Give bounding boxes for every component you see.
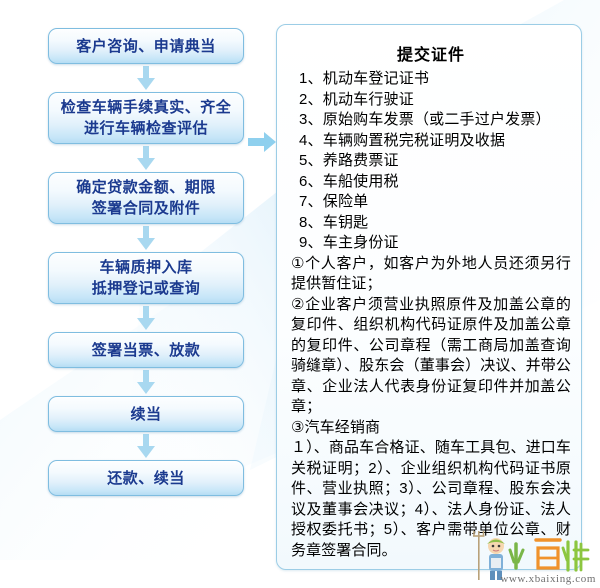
down-arrow-icon (137, 66, 155, 90)
down-arrow-icon (137, 306, 155, 330)
note-enterprise-customer: ②企业客户须营业执照原件及加盖公章的复印件、组织机构代码证原件及加盖公章的复印件… (291, 295, 571, 418)
connector-arrow-4 (48, 304, 244, 332)
down-arrow-icon (137, 226, 155, 250)
list-item: 9、车主身份证 (291, 233, 571, 254)
down-arrow-icon (137, 370, 155, 394)
flow-step-1[interactable]: 客户咨询、申请典当 (48, 28, 244, 64)
flow-step-label: 确定贷款金额、期限 签署合同及附件 (70, 177, 222, 219)
connector-arrow-to-panel (248, 132, 276, 152)
required-documents-panel: 提交证件 1、机动车登记证书 2、机动车行驶证 3、原始购车发票（或二手过户发票… (276, 24, 582, 570)
flow-step-5[interactable]: 签署当票、放款 (48, 332, 244, 368)
required-documents-list: 1、机动车登记证书 2、机动车行驶证 3、原始购车发票（或二手过户发票） 4、车… (291, 69, 571, 254)
flow-step-label: 检查车辆手续真实、齐全 进行车辆检查评估 (55, 97, 238, 139)
flow-step-label: 还款、续当 (101, 468, 191, 489)
flow-step-label: 签署当票、放款 (86, 340, 207, 361)
list-item: 3、原始购车发票（或二手过户发票） (291, 110, 571, 131)
flow-step-4[interactable]: 车辆质押入库 抵押登记或查询 (48, 252, 244, 304)
list-item: 2、机动车行驶证 (291, 90, 571, 111)
process-flow-column: 客户咨询、申请典当 检查车辆手续真实、齐全 进行车辆检查评估 确定贷款金额、期限… (48, 28, 244, 496)
list-item: 1、机动车登记证书 (291, 69, 571, 90)
flow-step-label: 续当 (124, 404, 167, 425)
flow-step-label: 客户咨询、申请典当 (70, 36, 222, 57)
list-item: 7、保险单 (291, 192, 571, 213)
down-arrow-icon (137, 146, 155, 170)
down-arrow-icon (137, 434, 155, 458)
connector-arrow-2 (48, 144, 244, 172)
note-auto-dealer-details: １）、商品车合格证、随车工具包、进口车关税证明；2）、企业组织机构代码证书原件、… (291, 438, 571, 561)
connector-arrow-6 (48, 432, 244, 460)
list-item: 8、车钥匙 (291, 213, 571, 234)
note-auto-dealer-heading: ③汽车经销商 (291, 418, 571, 439)
watermark-url: www.xbaixing.com (500, 573, 596, 585)
flow-step-2[interactable]: 检查车辆手续真实、齐全 进行车辆检查评估 (48, 92, 244, 144)
flow-step-6[interactable]: 续当 (48, 396, 244, 432)
right-arrow-icon (248, 132, 276, 152)
flowchart-diagram: 客户咨询、申请典当 检查车辆手续真实、齐全 进行车辆检查评估 确定贷款金额、期限… (0, 0, 600, 588)
list-item: 5、养路费票证 (291, 151, 571, 172)
flow-step-label: 车辆质押入库 抵押登记或查询 (86, 257, 207, 299)
connector-arrow-3 (48, 224, 244, 252)
connector-arrow-1 (48, 64, 244, 92)
list-item: 4、车辆购置税完税证明及收据 (291, 131, 571, 152)
panel-title: 提交证件 (291, 41, 571, 65)
note-individual-customer: ①个人客户，如客户为外地人员还须另行提供暂住证； (291, 254, 571, 295)
connector-arrow-5 (48, 368, 244, 396)
list-item: 6、车船使用税 (291, 172, 571, 193)
flow-step-3[interactable]: 确定贷款金额、期限 签署合同及附件 (48, 172, 244, 224)
flow-step-7[interactable]: 还款、续当 (48, 460, 244, 496)
